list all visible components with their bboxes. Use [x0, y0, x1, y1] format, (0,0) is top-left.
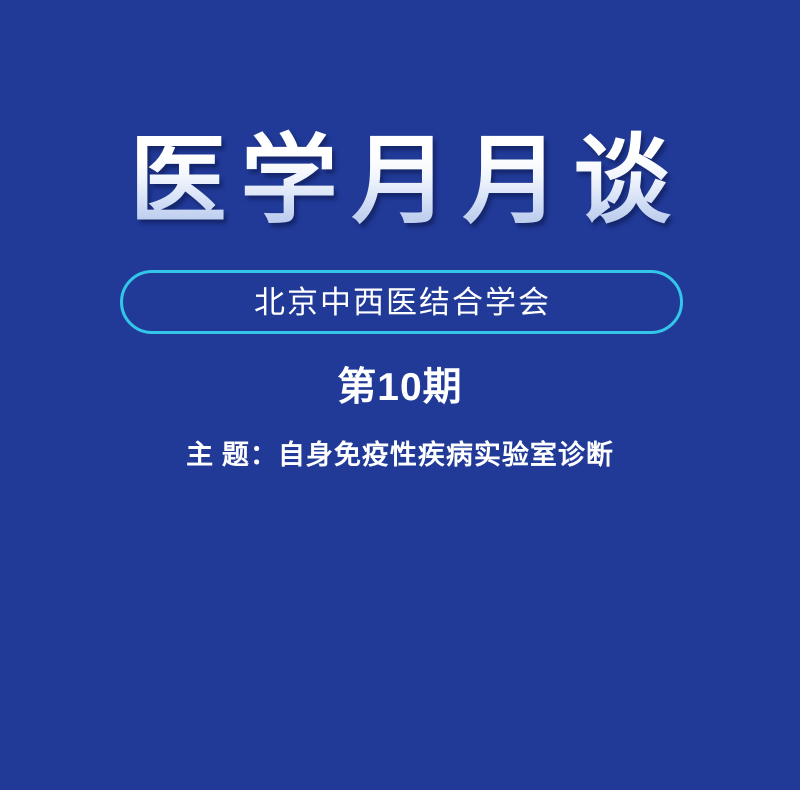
empty-lower-area [0, 500, 800, 790]
episode-number: 第10期 [0, 366, 800, 410]
topic-line: 主 题：自身免疫性疾病实验室诊断 [0, 440, 800, 472]
organization-name: 北京中西医结合学会 [252, 287, 551, 318]
page-title: 医学月月谈 [116, 128, 685, 237]
title-block: 医学月月谈 [0, 128, 800, 237]
poster-canvas: 医学月月谈 北京中西医结合学会 第10期 主 题：自身免疫性疾病实验室诊断 [0, 0, 800, 790]
organization-pill: 北京中西医结合学会 [120, 270, 683, 334]
